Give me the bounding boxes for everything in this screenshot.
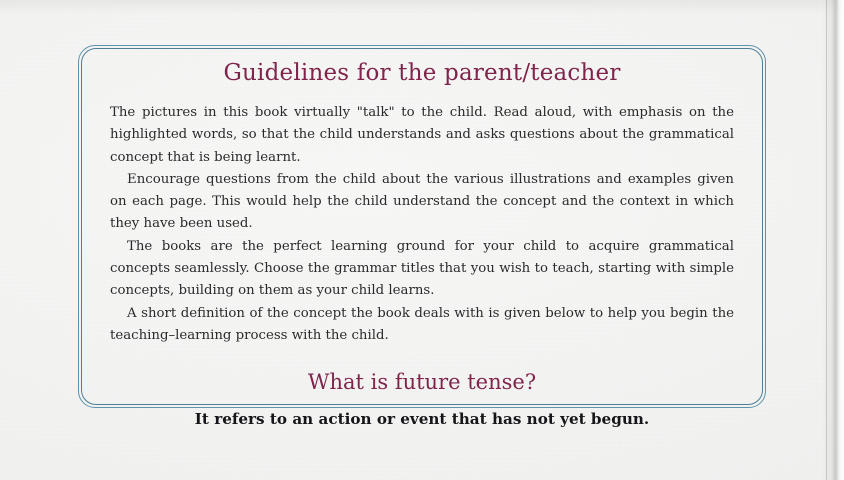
definition-text: It refers to an action or event that has… — [110, 408, 734, 430]
page-title: Guidelines for the parent/teacher — [110, 58, 734, 88]
paragraph-4: A short definition of the concept the bo… — [110, 303, 734, 348]
paragraph-3: The books are the perfect learning groun… — [110, 236, 734, 303]
guidelines-content: Guidelines for the parent/teacher The pi… — [110, 58, 734, 430]
page-top-shadow — [0, 0, 844, 14]
paragraph-2: Encourage questions from the child about… — [110, 169, 734, 236]
book-page: Guidelines for the parent/teacher The pi… — [0, 0, 844, 480]
guidelines-body: The pictures in this book virtually "tal… — [110, 102, 734, 347]
section-title: What is future tense? — [110, 368, 734, 396]
paragraph-1: The pictures in this book virtually "tal… — [110, 102, 734, 169]
page-right-edge-line — [826, 0, 827, 480]
